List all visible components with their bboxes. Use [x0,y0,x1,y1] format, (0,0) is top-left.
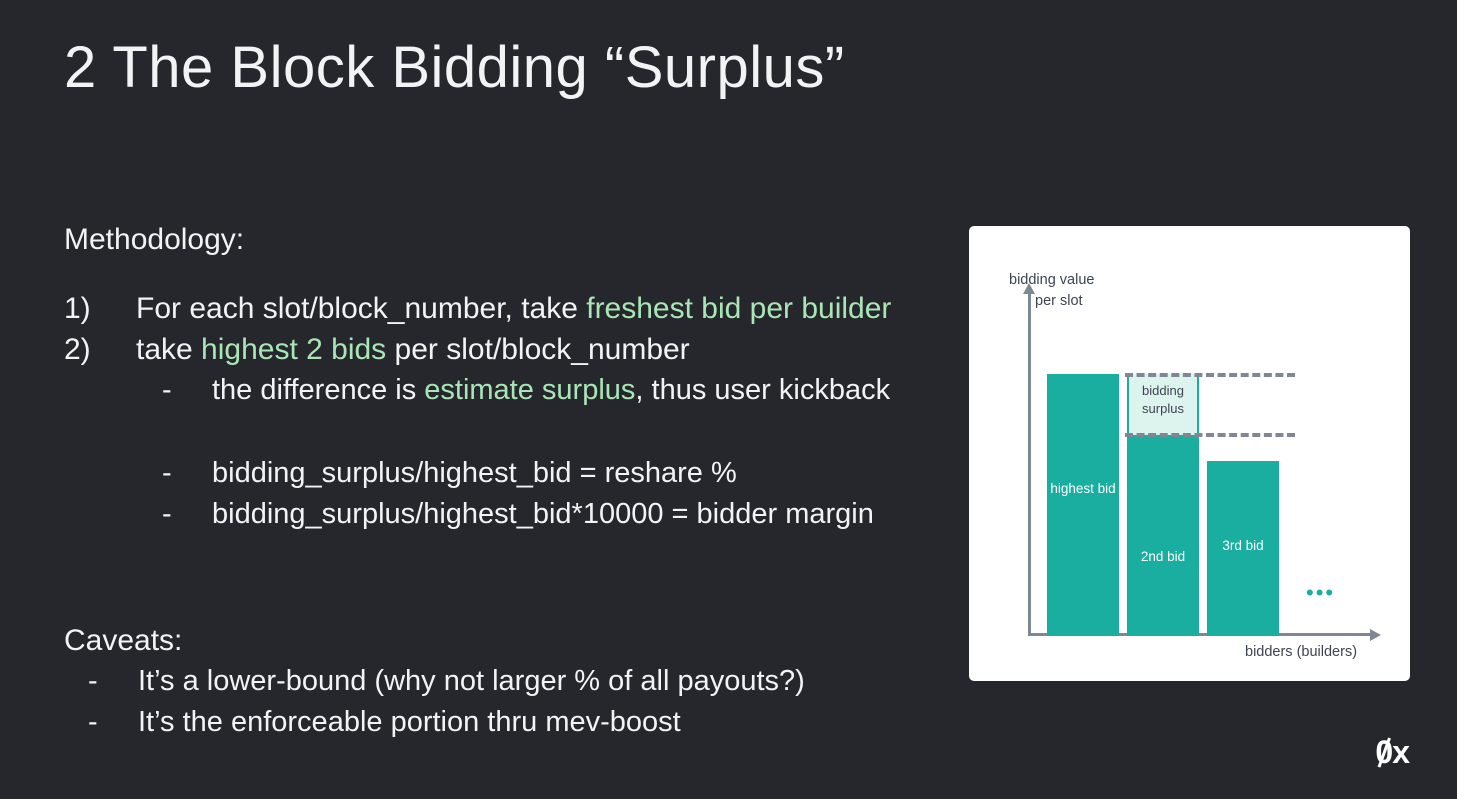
accent-segment: freshest bid per builder [586,292,891,325]
spacer [64,260,944,288]
bar-chart: bidding value per slot highest bid 2nd b… [969,226,1410,681]
page-title: 2 The Block Bidding “Surplus” [64,34,845,101]
caveat-text: It’s a lower-bound (why not larger % of … [138,661,944,702]
formula-text: bidding_surplus/highest_bid*10000 = bidd… [212,494,944,535]
bar-label: 3rd bid [1207,537,1279,555]
text-segment: the difference is [212,374,424,406]
list-dash: - [88,702,138,743]
surplus-label-line1: bidding [1109,382,1217,400]
surplus-guide-line-bottom [1125,433,1295,437]
ellipsis-icon: ••• [1306,588,1335,598]
surplus-label: bidding surplus [1109,382,1217,418]
list-item: 2) take highest 2 bids per slot/block_nu… [64,329,944,370]
y-axis-line [1028,292,1031,636]
sub-list-item: - bidding_surplus/highest_bid = reshare … [64,453,944,494]
list-dash: - [162,370,212,411]
body-content: Methodology: 1) For each slot/block_numb… [64,220,944,743]
list-dash: - [162,453,212,494]
bar-2nd-bid: 2nd bid [1127,435,1199,636]
y-axis-arrow-icon [1023,283,1035,294]
surplus-label-line2: surplus [1109,400,1217,418]
list-item-text: For each slot/block_number, take freshes… [136,288,944,329]
chart-card: bidding value per slot highest bid 2nd b… [969,226,1410,681]
list-marker: 1) [64,288,136,329]
text-segment-post: , thus user kickback [635,374,890,406]
formula-text: bidding_surplus/highest_bid = reshare % [212,453,944,494]
x-axis-label: bidders (builders) [1245,644,1357,660]
list-marker: 2) [64,329,136,370]
x-axis-arrow-icon [1370,629,1381,641]
caveat-item: - It’s the enforceable portion thru mev-… [64,702,944,743]
surplus-guide-line-top [1125,373,1295,377]
spacer [64,411,944,453]
accent-segment: highest 2 bids [201,333,386,366]
methodology-heading: Methodology: [64,220,944,260]
caveat-item: - It’s a lower-bound (why not larger % o… [64,661,944,702]
accent-segment: estimate surplus [424,374,635,406]
sub-list-item: - bidding_surplus/highest_bid*10000 = bi… [64,494,944,535]
text-segment: For each slot/block_number, take [136,292,586,325]
y-axis-label-line2: per slot [1009,291,1094,312]
text-segment: take [136,333,201,366]
sub-list-item-text: the difference is estimate surplus, thus… [212,370,944,411]
caveat-text: It’s the enforceable portion thru mev-bo… [138,702,944,743]
list-dash: - [162,494,212,535]
y-axis-label-line1: bidding value [1009,272,1094,288]
list-dash: - [88,661,138,702]
bar-3rd-bid: 3rd bid [1207,461,1279,636]
list-item: 1) For each slot/block_number, take fres… [64,288,944,329]
caveats-heading: Caveats: [64,621,944,661]
text-segment-post: per slot/block_number [386,333,690,366]
y-axis-label: bidding value per slot [1009,270,1094,312]
bar-label: 2nd bid [1127,548,1199,566]
bar-label: highest bid [1047,480,1119,498]
spacer [64,535,944,621]
brand-logo: 0x [1375,734,1409,771]
logo-x: x [1392,734,1409,770]
list-item-text: take highest 2 bids per slot/block_numbe… [136,329,944,370]
sub-list-item: - the difference is estimate surplus, th… [64,370,944,411]
logo-zero: 0 [1375,734,1392,771]
slide: 2 The Block Bidding “Surplus” Methodolog… [0,0,1457,799]
